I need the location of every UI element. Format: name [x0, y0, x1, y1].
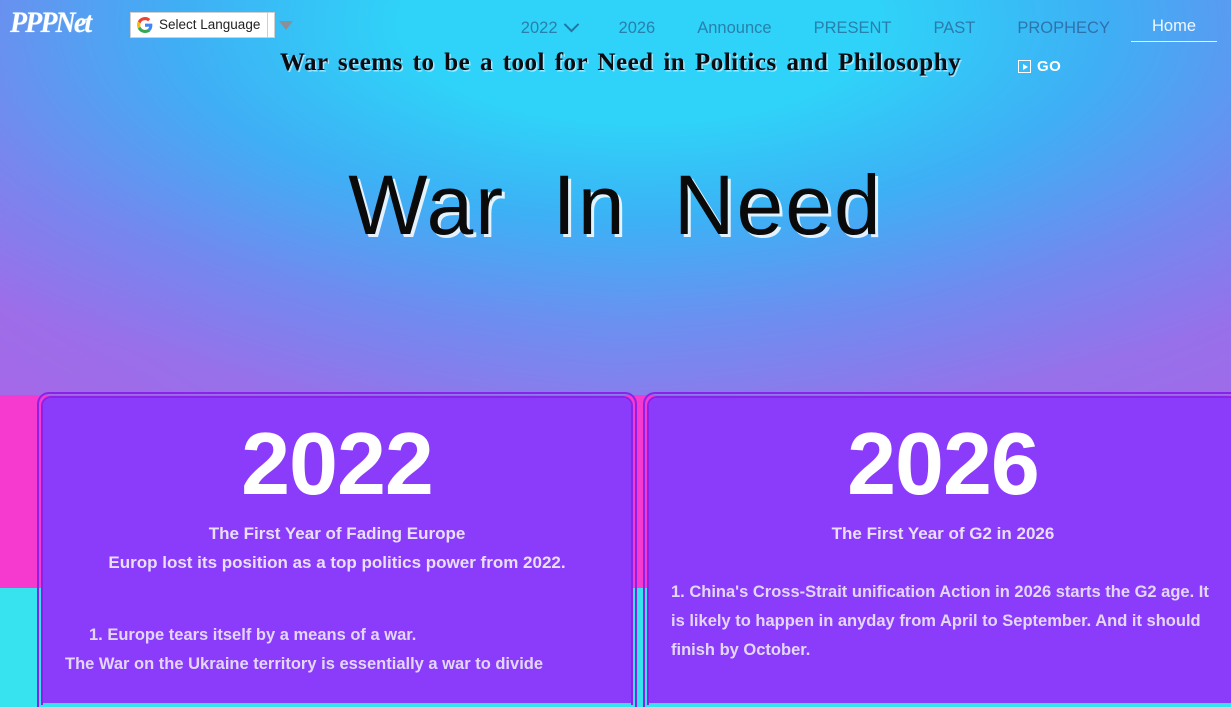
card-subtitle-secondary: Europ lost its position as a top politic…: [65, 548, 609, 577]
page-title-text: War In Need: [348, 158, 882, 252]
google-g-icon: [137, 17, 153, 33]
card-body-line: The War on the Ukraine territory is esse…: [65, 650, 609, 679]
page-root: PPPNet Select Language 2022: [0, 0, 1231, 707]
card-subtitle: The First Year of G2 in 2026: [671, 520, 1215, 548]
translate-select-box[interactable]: Select Language: [130, 12, 275, 38]
go-button[interactable]: GO: [1018, 58, 1061, 75]
card-body-line: 1. China's Cross-Strait unification Acti…: [671, 578, 1215, 665]
card-body-text: 1. China's Cross-Strait unification Acti…: [671, 578, 1215, 665]
card-year-heading: 2026: [671, 414, 1215, 514]
nav-item-home[interactable]: Home: [1131, 13, 1217, 42]
card-year-heading: 2022: [65, 414, 609, 514]
year-cards-container: 2022 The First Year of Fading Europe Eur…: [37, 392, 1231, 707]
card-frame-2022: 2022 The First Year of Fading Europe Eur…: [37, 392, 637, 707]
page-title: War In Need: [0, 160, 1231, 250]
main-navigation: 2022 2026 Announce PRESENT PAST PROPHECY…: [500, 13, 1217, 42]
go-button-label: GO: [1037, 58, 1061, 75]
year-card-2026[interactable]: 2026 The First Year of G2 in 2026 1. Chi…: [649, 398, 1231, 703]
nav-item-2026[interactable]: 2026: [598, 15, 677, 41]
play-box-icon: [1018, 60, 1031, 73]
year-card-2022[interactable]: 2022 The First Year of Fading Europe Eur…: [43, 398, 631, 703]
card-subtitle: The First Year of Fading Europe: [65, 520, 609, 548]
nav-item-past[interactable]: PAST: [913, 15, 997, 41]
nav-item-prophecy[interactable]: PROPHECY: [996, 15, 1131, 41]
dropdown-caret-icon[interactable]: [279, 21, 293, 30]
card-body-line: 1. Europe tears itself by a means of a w…: [65, 621, 609, 650]
google-translate-widget[interactable]: Select Language: [130, 12, 293, 38]
card-body-text: 1. Europe tears itself by a means of a w…: [65, 621, 609, 679]
nav-item-2022[interactable]: 2022: [500, 15, 598, 41]
chevron-down-icon: [563, 17, 579, 33]
translate-label: Select Language: [159, 12, 268, 38]
nav-item-present[interactable]: PRESENT: [793, 15, 913, 41]
top-bar: PPPNet Select Language 2022: [0, 0, 1231, 52]
site-logo[interactable]: PPPNet: [10, 7, 90, 39]
card-frame-2026: 2026 The First Year of G2 in 2026 1. Chi…: [643, 392, 1231, 707]
nav-item-label: 2022: [521, 15, 558, 41]
nav-item-announce[interactable]: Announce: [676, 15, 792, 41]
